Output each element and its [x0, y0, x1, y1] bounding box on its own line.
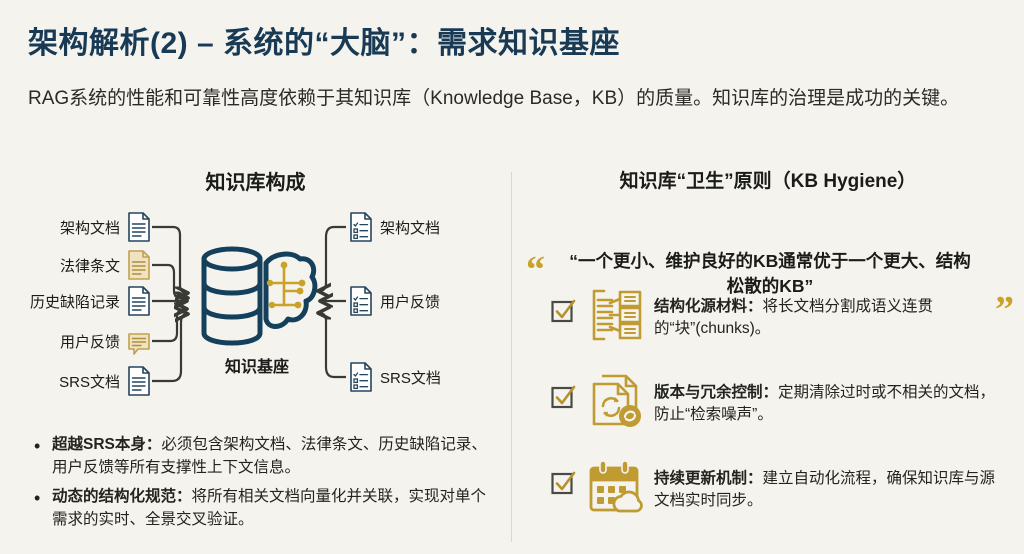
left-panel-heading: 知识库构成: [0, 166, 511, 195]
output-node-label: 架构文档: [380, 217, 440, 238]
slide-root: 架构解析(2) – 系统的“大脑”：需求知识基座 RAG系统的性能和可靠性高度依…: [0, 0, 1024, 554]
output-node-1[interactable]: 用户反馈: [348, 285, 440, 317]
input-node-label: 用户反馈: [60, 331, 120, 352]
input-node-label: SRS文档: [59, 371, 120, 392]
checklist-item-lead: 结构化源材料：: [654, 298, 763, 315]
checklist-item-text: 结构化源材料：将长文档分割成语义连贯的“块”(chunks)。: [654, 296, 1010, 341]
input-node-label: 法律条文: [60, 255, 120, 276]
checklist-document-icon: [348, 211, 374, 243]
document-icon: [126, 285, 152, 317]
input-node-4[interactable]: SRS文档: [10, 365, 152, 397]
output-node-label: SRS文档: [380, 367, 441, 388]
checklist-item-2[interactable]: 持续更新机制：建立自动化流程，确保知识库与源文档实时同步。: [512, 454, 1024, 540]
kb-hygiene-quote: “ “一个更小、维护良好的KB通常优于一个更大、结构松散的KB” ”: [512, 205, 1024, 279]
page-title: 架构解析(2) – 系统的“大脑”：需求知识基座: [28, 18, 620, 62]
knowledge-base-icon: [196, 243, 318, 355]
output-node-2[interactable]: SRS文档: [348, 361, 441, 393]
right-panel-heading: 知识库“卫生”原则（KB Hygiene）: [512, 166, 1024, 193]
chat-bubble-icon: [126, 325, 152, 357]
checklist-item-1[interactable]: 版本与冗余控制：定期清除过时或不相关的文档，防止“检索噪声”。: [512, 368, 1024, 454]
checklist-item-lead: 持续更新机制：: [654, 470, 763, 487]
checklist-item-text: 持续更新机制：建立自动化流程，确保知识库与源文档实时同步。: [654, 468, 1010, 513]
calendar-cloud-icon: [586, 458, 644, 516]
checklist-item-0[interactable]: 结构化源材料：将长文档分割成语义连贯的“块”(chunks)。: [512, 282, 1024, 368]
checklist-document-icon: [348, 361, 374, 393]
checkbox-checked-icon[interactable]: [550, 298, 576, 324]
input-node-label: 历史缺陷记录: [30, 291, 120, 312]
input-node-1[interactable]: 法律条文: [10, 249, 152, 281]
input-node-label: 架构文档: [60, 217, 120, 238]
checklist-document-icon: [348, 285, 374, 317]
input-node-3[interactable]: 用户反馈: [10, 325, 152, 357]
bullet-lead: 超越SRS本身：: [52, 436, 161, 453]
kb-hygiene-checklist: 结构化源材料：将长文档分割成语义连贯的“块”(chunks)。: [512, 282, 1024, 540]
checkbox-checked-icon[interactable]: [550, 470, 576, 496]
page-subtitle: RAG系统的性能和可靠性高度依赖于其知识库（Knowledge Base，KB）…: [28, 84, 996, 113]
output-node-0[interactable]: 架构文档: [348, 211, 440, 243]
output-node-label: 用户反馈: [380, 291, 440, 312]
checklist-item-lead: 版本与冗余控制：: [654, 384, 778, 401]
bullet-item: 超越SRS本身：必须包含架构文档、法律条文、历史缺陷记录、用户反馈等所有支撑性上…: [30, 434, 500, 480]
left-bullet-list: 超越SRS本身：必须包含架构文档、法律条文、历史缺陷记录、用户反馈等所有支撑性上…: [30, 434, 500, 538]
document-icon: [126, 365, 152, 397]
document-icon: [126, 211, 152, 243]
input-node-0[interactable]: 架构文档: [10, 211, 152, 243]
bullet-item: 动态的结构化规范：将所有相关文档向量化并关联，实现对单个需求的实时、全景交叉验证…: [30, 486, 500, 532]
knowledge-base-label: 知识基座: [196, 353, 318, 377]
input-node-2[interactable]: 历史缺陷记录: [10, 285, 152, 317]
structure-chunk-icon: [586, 286, 644, 344]
document-icon: [126, 249, 152, 281]
bullet-lead: 动态的结构化规范：: [52, 488, 192, 505]
version-sync-document-icon: [586, 372, 644, 430]
checkbox-checked-icon[interactable]: [550, 384, 576, 410]
checklist-item-text: 版本与冗余控制：定期清除过时或不相关的文档，防止“检索噪声”。: [654, 382, 1010, 427]
kb-composition-diagram: 架构文档 法律条文: [0, 201, 511, 431]
